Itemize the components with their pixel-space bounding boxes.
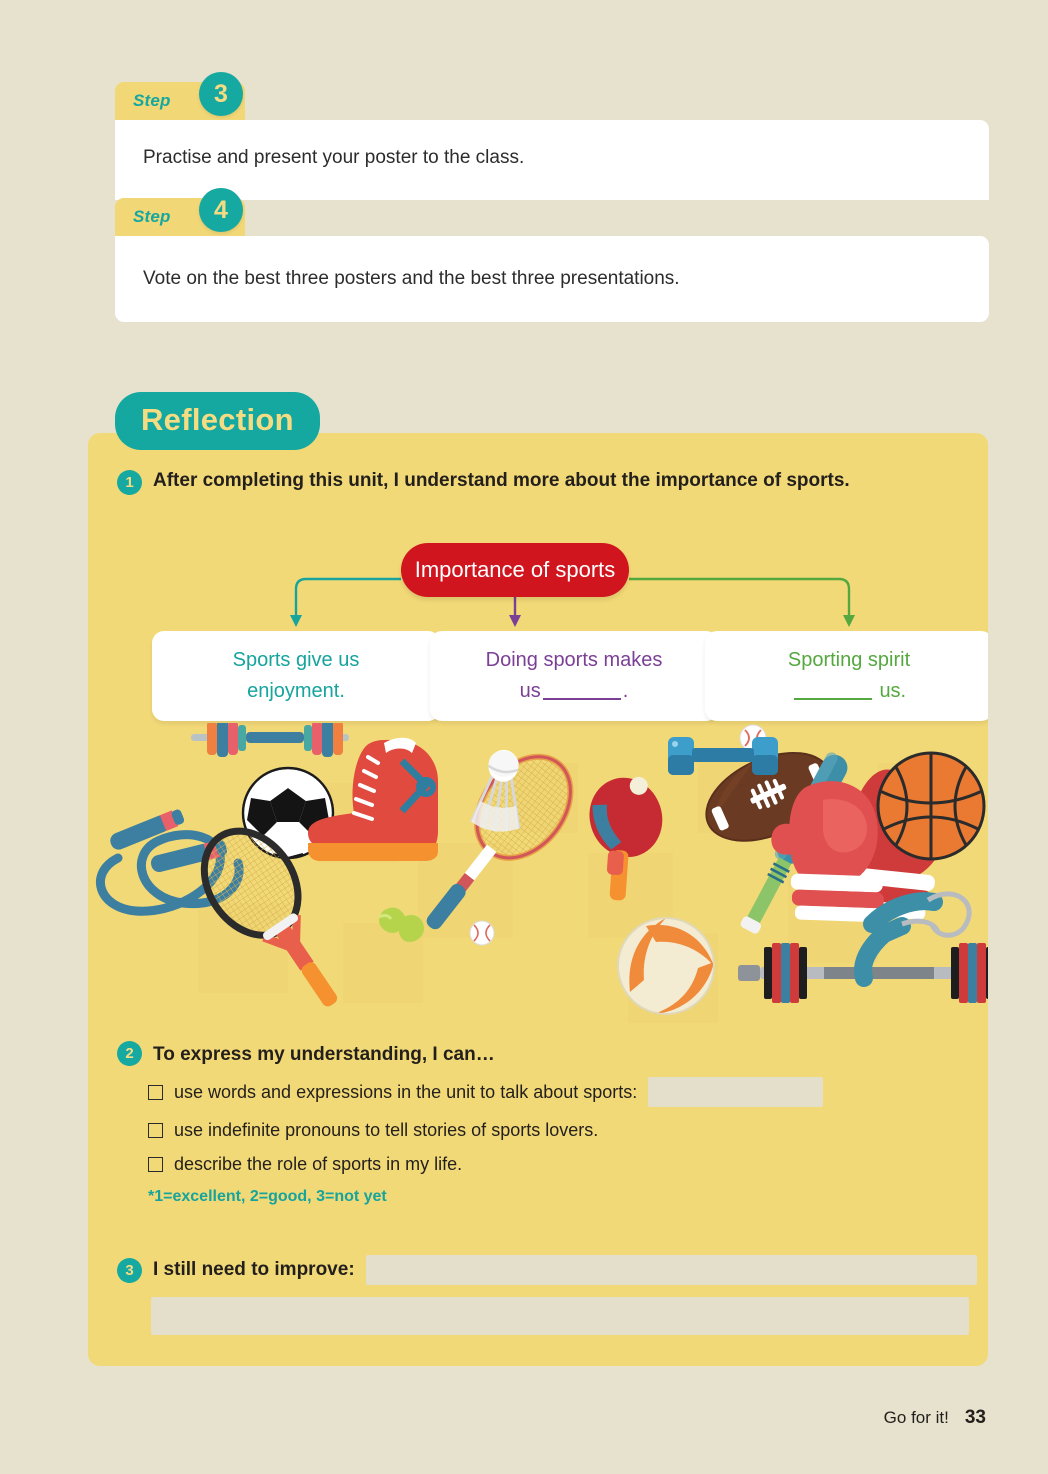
mindmap-branch-3: Sporting spirit us. [705, 631, 988, 721]
improve-input-line-2[interactable] [151, 1297, 969, 1335]
mindmap-branch-suffix: us. [879, 680, 906, 702]
steps-section: Step 3 Practise and present your poster … [115, 82, 989, 322]
mindmap-branch-line2: enjoyment. [247, 676, 345, 707]
mindmap-branch-prefix: us [520, 680, 541, 702]
checklist-item[interactable]: use words and expressions in the unit to… [148, 1077, 977, 1107]
mindmap-branch-line2: us. [520, 676, 629, 707]
reflection-question-1: 1 After completing this unit, I understa… [117, 467, 957, 495]
step-tab-label: Step [133, 91, 171, 111]
mindmap-branch-suffix: . [623, 680, 629, 702]
mindmap-branch-1: Sports give us enjoyment. [152, 631, 440, 721]
mindmap-branch-line1: Sporting spirit [788, 645, 910, 676]
question-text: After completing this unit, I understand… [153, 467, 850, 494]
mindmap-diagram: Importance of sports Sports give us enjo… [88, 533, 988, 743]
sports-equipment-illustration [88, 723, 988, 1023]
mindmap-branch-line1: Sports give us [233, 645, 360, 676]
page-footer: Go for it! 33 [884, 1407, 986, 1429]
reflection-question-3: 3 I still need to improve: [117, 1255, 977, 1335]
checklist-item[interactable]: describe the role of sports in my life. [148, 1154, 977, 1175]
basketball-icon [878, 753, 984, 859]
step-tab-3: Step 3 [115, 82, 245, 120]
step-number-badge: 3 [199, 72, 243, 116]
mindmap-branch-line2: us. [792, 676, 906, 707]
step-tab-label: Step [133, 207, 171, 227]
checkbox-empty-icon[interactable] [148, 1085, 163, 1100]
question-text: I still need to improve: [153, 1256, 355, 1283]
book-series-label: Go for it! [884, 1408, 949, 1428]
baseball-icon [470, 921, 494, 945]
question-text: To express my understanding, I can… [153, 1041, 495, 1068]
reflection-title: Reflection [115, 392, 320, 450]
checkbox-empty-icon[interactable] [148, 1123, 163, 1138]
colorful-dumbbell-icon [191, 723, 349, 757]
mindmap-branch-line1: Doing sports makes [486, 645, 663, 676]
improve-input-line-1[interactable] [366, 1255, 977, 1285]
fill-in-blank[interactable] [543, 680, 621, 700]
fill-in-blank[interactable] [794, 680, 872, 700]
step-tab-4: Step 4 [115, 198, 245, 236]
question-number-badge: 3 [117, 1258, 142, 1283]
checklist: use words and expressions in the unit to… [148, 1077, 977, 1175]
checklist-item[interactable]: use indefinite pronouns to tell stories … [148, 1120, 977, 1141]
rating-legend: *1=excellent, 2=good, 3=not yet [148, 1188, 977, 1206]
reflection-question-2: 2 To express my understanding, I can… us… [117, 1041, 977, 1206]
checklist-item-label: describe the role of sports in my life. [174, 1154, 462, 1175]
checkbox-empty-icon[interactable] [148, 1157, 163, 1172]
question-number-badge: 2 [117, 1041, 142, 1066]
mindmap-branch-2: Doing sports makes us. [430, 631, 718, 721]
checklist-item-label: use indefinite pronouns to tell stories … [174, 1120, 598, 1141]
step-text: Practise and present your poster to the … [143, 147, 524, 169]
step-body-4: Vote on the best three posters and the b… [115, 236, 989, 322]
mindmap-center-node: Importance of sports [401, 543, 629, 597]
step-body-3: Practise and present your poster to the … [115, 120, 989, 200]
rating-input[interactable] [648, 1077, 823, 1107]
step-text: Vote on the best three posters and the b… [143, 268, 680, 290]
checklist-item-label: use words and expressions in the unit to… [174, 1082, 637, 1103]
question-number-badge: 1 [117, 470, 142, 495]
page-number: 33 [965, 1407, 986, 1429]
step-number-badge: 4 [199, 188, 243, 232]
volleyball-icon [618, 918, 714, 1014]
reflection-panel: 1 After completing this unit, I understa… [88, 433, 988, 1366]
